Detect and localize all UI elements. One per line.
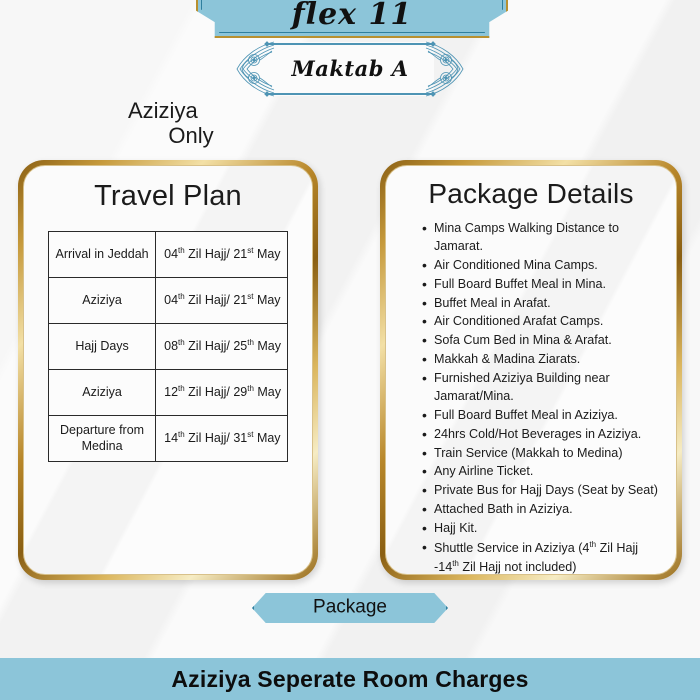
table-row: Departure from Medina14th Zil Hajj/ 31st… <box>49 416 288 462</box>
list-item: Furnished Aziziya Building near Jamarat/… <box>422 370 662 406</box>
travel-date-cell: 12th Zil Hajj/ 29th May <box>156 370 288 416</box>
package-details-title: Package Details <box>386 166 676 210</box>
maktab-rule-top <box>268 43 432 45</box>
flex-banner-label: flex 11 <box>198 0 506 32</box>
list-item: Sofa Cum Bed in Mina & Arafat. <box>422 332 662 350</box>
aziziya-only-line1: Aziziya <box>116 98 266 123</box>
list-item: Air Conditioned Arafat Camps. <box>422 313 662 331</box>
table-row: Hajj Days08th Zil Hajj/ 25th May <box>49 324 288 370</box>
travel-plan-card: Travel Plan Arrival in Jeddah04th Zil Ha… <box>18 160 318 580</box>
aziziya-only-subtitle: Aziziya Only <box>116 98 266 149</box>
package-details-list: Mina Camps Walking Distance to Jamarat.A… <box>408 220 662 575</box>
travel-plan-table: Arrival in Jeddah04th Zil Hajj/ 21st May… <box>48 231 288 462</box>
travel-event-cell: Hajj Days <box>49 324 156 370</box>
list-item: Buffet Meal in Arafat. <box>422 295 662 313</box>
travel-event-cell: Aziziya <box>49 370 156 416</box>
travel-date-cell: 04th Zil Hajj/ 21st May <box>156 232 288 278</box>
list-item: Air Conditioned Mina Camps. <box>422 257 662 275</box>
table-row: Aziziya04th Zil Hajj/ 21st May <box>49 278 288 324</box>
travel-date-cell: 04th Zil Hajj/ 21st May <box>156 278 288 324</box>
travel-date-cell: 14th Zil Hajj/ 31st May <box>156 416 288 462</box>
footer-label: Aziziya Seperate Room Charges <box>171 666 528 693</box>
table-row: Aziziya12th Zil Hajj/ 29th May <box>49 370 288 416</box>
package-details-card: Package Details Mina Camps Walking Dista… <box>380 160 682 580</box>
flex-banner: flex 11 <box>196 0 508 38</box>
footer-bar: Aziziya Seperate Room Charges <box>0 658 700 700</box>
list-item: Attached Bath in Aziziya. <box>422 501 662 519</box>
list-item: Full Board Buffet Meal in Aziziya. <box>422 407 662 425</box>
aziziya-only-line2: Only <box>116 123 266 148</box>
maktab-rule-bottom <box>268 93 432 95</box>
package-details-card-inner: Package Details Mina Camps Walking Dista… <box>385 165 677 575</box>
list-item: 24hrs Cold/Hot Beverages in Aziziya. <box>422 426 662 444</box>
table-row: Arrival in Jeddah04th Zil Hajj/ 21st May <box>49 232 288 278</box>
travel-event-cell: Aziziya <box>49 278 156 324</box>
poster-stage: flex 11 <box>0 0 700 700</box>
list-item: Train Service (Makkah to Medina) <box>422 445 662 463</box>
travel-event-cell: Arrival in Jeddah <box>49 232 156 278</box>
maktab-frame: Maktab A <box>238 40 462 98</box>
travel-plan-title: Travel Plan <box>24 166 312 213</box>
travel-plan-card-inner: Travel Plan Arrival in Jeddah04th Zil Ha… <box>23 165 313 575</box>
package-banner-label: Package <box>254 597 446 619</box>
list-item: Full Board Buffet Meal in Mina. <box>422 276 662 294</box>
travel-date-cell: 08th Zil Hajj/ 25th May <box>156 324 288 370</box>
maktab-label: Maktab A <box>238 56 462 81</box>
travel-event-cell: Departure from Medina <box>49 416 156 462</box>
list-item: Private Bus for Hajj Days (Seat by Seat) <box>422 482 662 500</box>
list-item: Mina Camps Walking Distance to Jamarat. <box>422 220 662 256</box>
list-item: Shuttle Service in Aziziya (4th Zil Hajj… <box>422 539 662 575</box>
list-item: Any Airline Ticket. <box>422 463 662 481</box>
package-banner: Package <box>252 591 448 625</box>
list-item: Makkah & Madina Ziarats. <box>422 351 662 369</box>
list-item: Hajj Kit. <box>422 520 662 538</box>
